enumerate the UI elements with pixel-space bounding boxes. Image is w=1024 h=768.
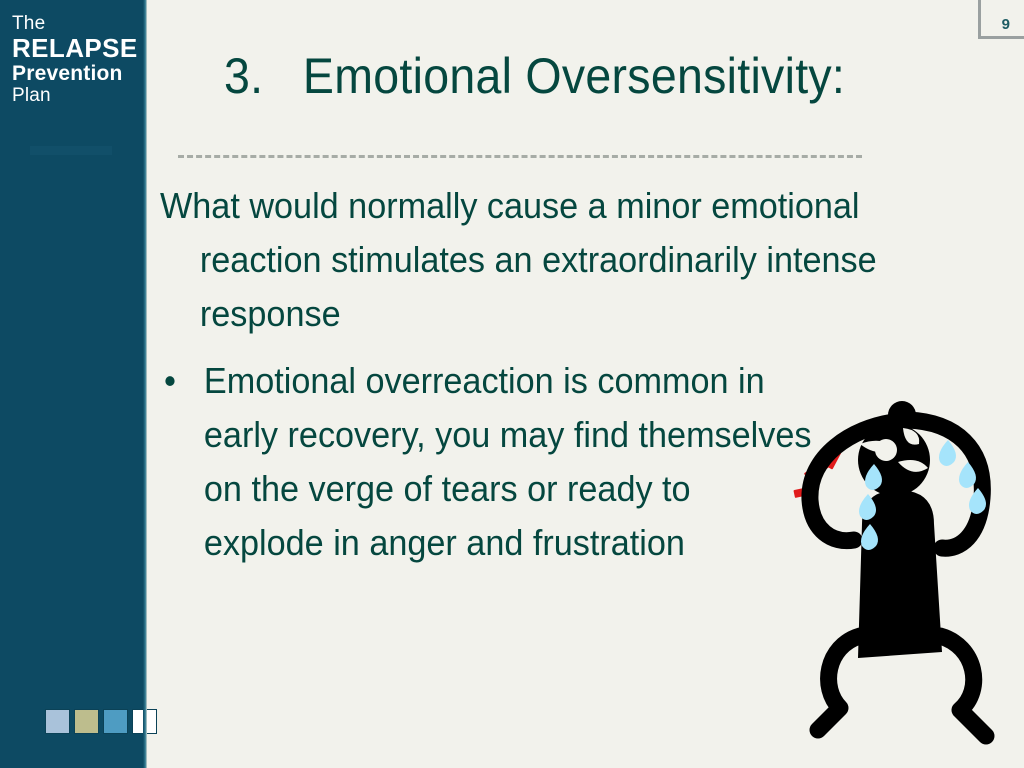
logo-line-prevention: Prevention	[12, 63, 142, 85]
bullet-text: Emotional overreaction is common in earl…	[204, 360, 812, 563]
stressed-person-illustration	[790, 378, 1024, 768]
brand-logo: The RELAPSE Prevention Plan	[12, 14, 142, 105]
logo-line-plan: Plan	[12, 86, 142, 106]
bullet-marker: •	[164, 354, 204, 408]
swatch-3	[103, 709, 128, 734]
logo-line-the: The	[12, 14, 142, 34]
swatch-row	[45, 709, 157, 734]
page-title: 3. Emotional Oversensitivity:	[224, 47, 845, 105]
paragraph-intro: What would normally cause a minor emotio…	[160, 179, 950, 341]
swatch-2	[74, 709, 99, 734]
sidebar-edge	[143, 0, 147, 768]
sidebar-accent-bar	[30, 146, 112, 155]
page-number: 9	[1002, 16, 1010, 33]
slide: The RELAPSE Prevention Plan 9 3. Emotion…	[0, 0, 1024, 768]
bullet-item: •Emotional overreaction is common in ear…	[164, 354, 812, 570]
sidebar: The RELAPSE Prevention Plan	[0, 0, 147, 768]
logo-line-relapse: RELAPSE	[12, 35, 142, 62]
body-content: What would normally cause a minor emotio…	[160, 179, 950, 341]
swatch-1	[45, 709, 70, 734]
title-divider	[178, 155, 862, 158]
